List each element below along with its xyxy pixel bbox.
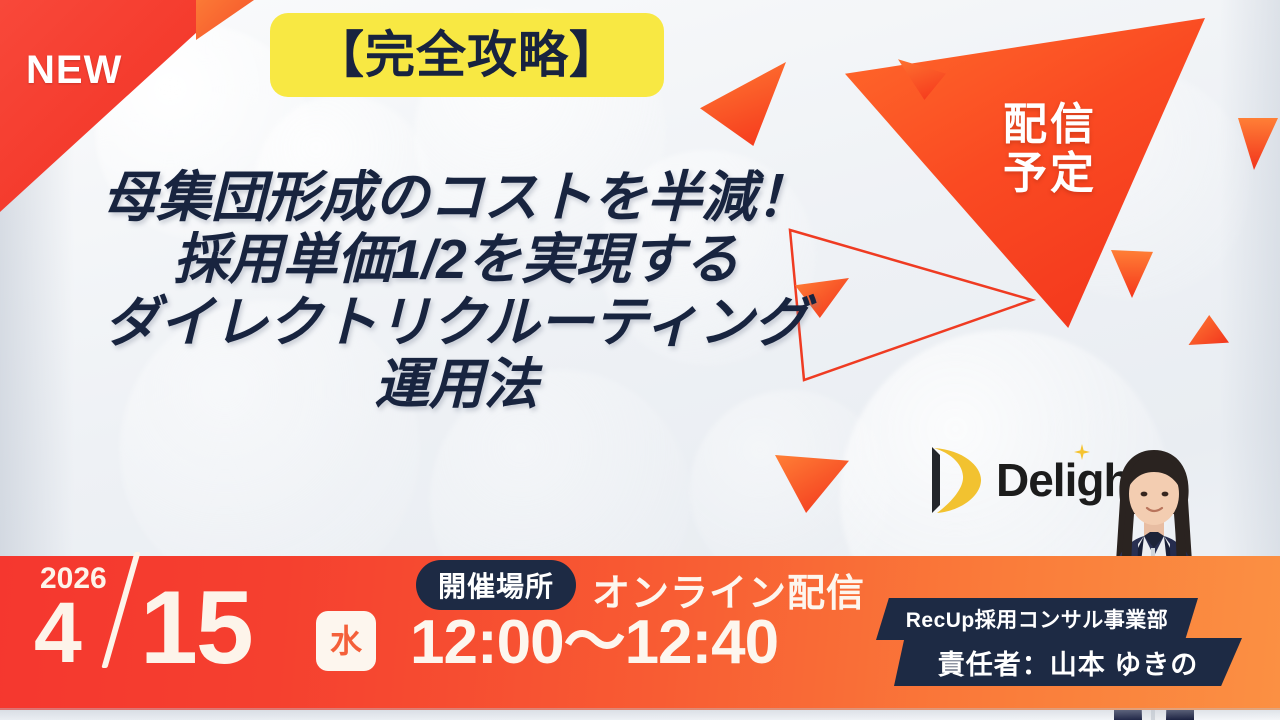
day-of-week-badge: 水: [316, 611, 376, 671]
broadcast-status-badge: 配信 予定: [975, 100, 1125, 199]
title-line-4: 運用法: [16, 353, 896, 415]
broadcast-status-line-1: 配信: [1003, 100, 1097, 149]
schedule-bar-shadow: [0, 708, 1280, 720]
venue-label-text: 開催場所: [438, 565, 554, 605]
event-day: 15: [140, 576, 252, 680]
webinar-banner: NEW 【完全攻略】 配信 予定 母集団形成のコストを半減！ 採用単価1/2を実…: [0, 0, 1280, 720]
broadcast-status-line-2: 予定: [1003, 149, 1097, 198]
wall-edge-shadow-right: [1220, 0, 1280, 560]
event-time: 12:00〜12:40: [410, 612, 778, 674]
title-line-3: ダイレクトリクルーティング: [16, 291, 896, 353]
page-title: 母集団形成のコストを半減！ 採用単価1/2を実現する ダイレクトリクルーティング…: [16, 166, 896, 416]
day-of-week-label: 水: [330, 625, 362, 657]
title-line-1: 母集団形成のコストを半減！: [16, 166, 896, 228]
eyebrow-badge-label: 【完全攻略】: [314, 30, 620, 80]
event-month: 4: [34, 590, 82, 676]
presenter-department-text: RecUp採用コンサル事業部: [906, 604, 1169, 634]
title-line-2: 採用単価1/2を実現する: [16, 228, 896, 290]
presenter-department-ribbon: RecUp採用コンサル事業部: [876, 598, 1198, 640]
new-badge-label: NEW: [26, 48, 122, 93]
eyebrow-badge: 【完全攻略】: [270, 13, 664, 97]
delight-d-mark-icon: [920, 443, 986, 517]
presenter-name-text: 責任者：山本 ゆきの: [938, 643, 1199, 682]
venue-label-badge: 開催場所: [416, 560, 576, 610]
presenter-name-ribbon: 責任者：山本 ゆきの: [894, 638, 1242, 686]
